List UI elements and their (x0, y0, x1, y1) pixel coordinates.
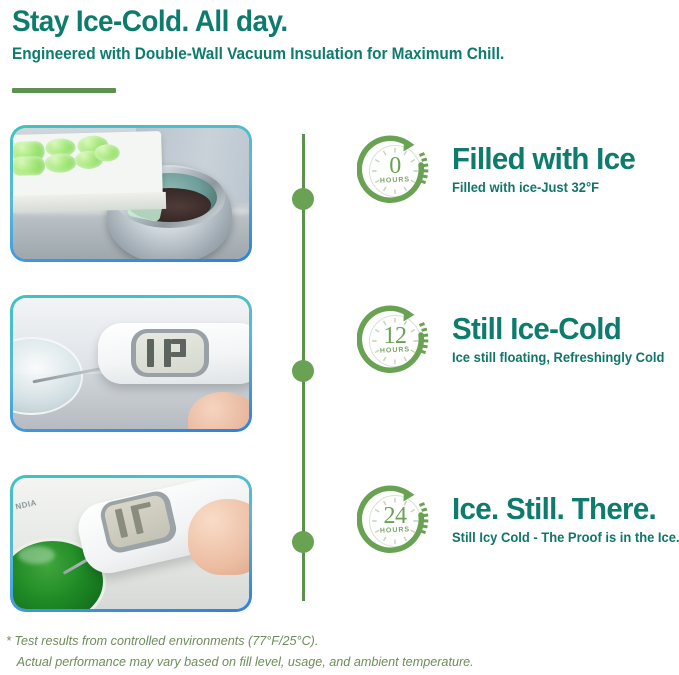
footnote-line-1: * Test results from controlled environme… (6, 630, 646, 651)
photo-card-2: NDIA (10, 475, 252, 612)
photo-image-thermometer-water (13, 298, 249, 429)
feature-title-0: Filled with Ice (452, 142, 635, 176)
feature-subtitle-2: Still Icy Cold - The Proof is in the Ice… (452, 529, 679, 547)
feature-title-1: Still Ice-Cold (452, 312, 621, 346)
photo-image-ice-tray (13, 128, 249, 259)
feature-row-1: 12 HOURS Still Ice-Cold Ice still floati… (0, 290, 679, 440)
photo-card-1 (10, 295, 252, 432)
clock-hours-value: 0 (357, 154, 433, 178)
feature-row-2: NDIA 24 (0, 470, 679, 620)
lcd-segment (115, 509, 129, 538)
accent-rule-divider (12, 88, 116, 93)
ice-cube (94, 145, 119, 162)
ice-cube (13, 156, 45, 176)
lcd-segment (164, 339, 171, 367)
footnote-line-2: Actual performance may vary based on fil… (6, 651, 646, 672)
footnote: * Test results from controlled environme… (6, 630, 646, 672)
feature-title-2: Ice. Still. There. (452, 492, 656, 526)
lcd-segment (147, 339, 154, 367)
lcd-segment (137, 502, 151, 510)
photo-ice-tray-lip (13, 191, 167, 212)
photo-image-thermometer-green-drink: NDIA (13, 478, 249, 609)
clock-hours-icon-1: 12 HOURS (357, 302, 433, 378)
clock-hours-icon-0: 0 HOURS (357, 132, 433, 208)
feature-subtitle-1: Ice still floating, Refreshingly Cold (452, 349, 664, 367)
photo-lcd-display (136, 333, 204, 372)
photo-card-0 (10, 125, 252, 262)
page-title: Stay Ice-Cold. All day. (12, 4, 621, 40)
ice-cube (45, 154, 77, 173)
feature-row-0: 0 HOURS Filled with Ice Filled with ice-… (0, 120, 679, 270)
feature-subtitle-0: Filled with ice-Just 32°F (452, 179, 599, 197)
clock-hours-value: 12 (357, 324, 433, 348)
header: Stay Ice-Cold. All day. Engineered with … (12, 4, 667, 65)
clock-hours-value: 24 (357, 504, 433, 528)
page-subtitle: Engineered with Double-Wall Vacuum Insul… (12, 43, 621, 65)
lcd-segment (171, 352, 186, 357)
clock-hours-icon-2: 24 HOURS (357, 482, 433, 558)
photo-hand (188, 499, 249, 575)
